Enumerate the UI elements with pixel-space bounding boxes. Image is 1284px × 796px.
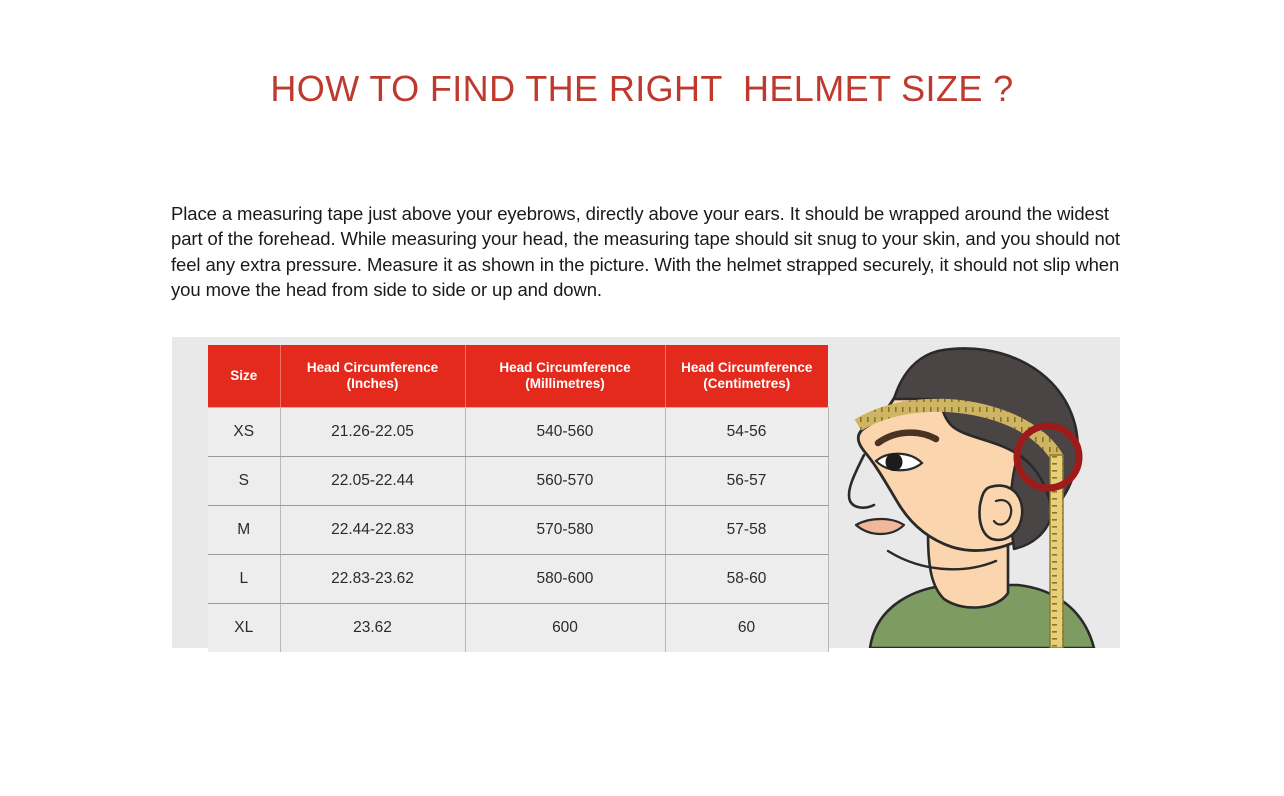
cell-size: M <box>208 506 280 555</box>
table-row: S 22.05-22.44 560-570 56-57 <box>208 457 828 506</box>
table-row: XL 23.62 600 60 <box>208 604 828 653</box>
cell-inches: 22.05-22.44 <box>280 457 465 506</box>
cell-size: S <box>208 457 280 506</box>
cell-centimetres: 60 <box>665 604 828 653</box>
cell-centimetres: 56-57 <box>665 457 828 506</box>
table-header-row: Size Head Circumference (Inches) Head Ci… <box>208 345 828 408</box>
column-header-inches: Head Circumference (Inches) <box>280 345 465 408</box>
cell-millimetres: 570-580 <box>465 506 665 555</box>
head-measurement-illustration <box>832 337 1120 648</box>
cell-inches: 21.26-22.05 <box>280 408 465 457</box>
table-row: XS 21.26-22.05 540-560 54-56 <box>208 408 828 457</box>
column-header-inches-line1: Head Circumference <box>307 360 438 375</box>
cell-millimetres: 560-570 <box>465 457 665 506</box>
intro-paragraph: Place a measuring tape just above your e… <box>171 201 1121 303</box>
column-header-centimetres-line2: (Centimetres) <box>670 376 825 392</box>
column-header-centimetres-line1: Head Circumference <box>681 360 812 375</box>
head-measurement-icon <box>832 337 1120 648</box>
content-panel: Size Head Circumference (Inches) Head Ci… <box>172 337 1120 648</box>
page-title: HOW TO FIND THE RIGHT HELMET SIZE ? <box>0 68 1284 110</box>
cell-size: XL <box>208 604 280 653</box>
cell-size: L <box>208 555 280 604</box>
cell-centimetres: 54-56 <box>665 408 828 457</box>
table-header: Size Head Circumference (Inches) Head Ci… <box>208 345 828 408</box>
table-body: XS 21.26-22.05 540-560 54-56 S 22.05-22.… <box>208 408 828 653</box>
table-row: L 22.83-23.62 580-600 58-60 <box>208 555 828 604</box>
cell-size: XS <box>208 408 280 457</box>
size-chart-table: Size Head Circumference (Inches) Head Ci… <box>208 345 829 652</box>
column-header-millimetres-line2: (Millimetres) <box>470 376 661 392</box>
column-header-inches-line2: (Inches) <box>285 376 461 392</box>
column-header-millimetres: Head Circumference (Millimetres) <box>465 345 665 408</box>
ear-shape <box>980 486 1023 540</box>
column-header-size-line1: Size <box>230 368 257 383</box>
table-row: M 22.44-22.83 570-580 57-58 <box>208 506 828 555</box>
cell-centimetres: 58-60 <box>665 555 828 604</box>
cell-millimetres: 580-600 <box>465 555 665 604</box>
cell-inches: 23.62 <box>280 604 465 653</box>
column-header-centimetres: Head Circumference (Centimetres) <box>665 345 828 408</box>
cell-inches: 22.44-22.83 <box>280 506 465 555</box>
cell-centimetres: 57-58 <box>665 506 828 555</box>
column-header-millimetres-line1: Head Circumference <box>499 360 630 375</box>
column-header-size: Size <box>208 345 280 408</box>
pupil-shape <box>886 453 903 471</box>
cell-millimetres: 600 <box>465 604 665 653</box>
cell-millimetres: 540-560 <box>465 408 665 457</box>
cell-inches: 22.83-23.62 <box>280 555 465 604</box>
